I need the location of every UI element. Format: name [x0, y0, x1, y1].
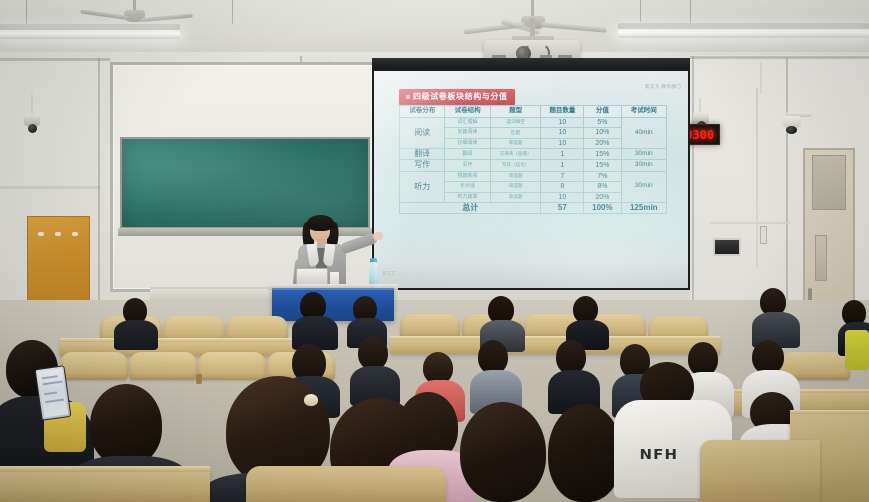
- student-head: [460, 402, 546, 502]
- cell-score: 20%: [584, 192, 621, 202]
- table-row: 阅读 词汇理解 选词填空 10 5% 40min: [400, 118, 667, 128]
- student-desk: [0, 470, 210, 502]
- cell-count: 10: [541, 118, 584, 128]
- table-total-row: 总计 57 100% 125min: [400, 202, 667, 213]
- group-writing: 写作: [400, 160, 445, 171]
- cell-count: 10: [541, 128, 584, 138]
- ceiling-light: [618, 29, 869, 38]
- cell-score: 20%: [584, 138, 621, 148]
- cell-qtype: 单选题: [490, 171, 541, 181]
- cell-qtype: 单选题: [490, 182, 541, 192]
- projection-screen: 新东方 教师部门 新东方 四级试卷板块结构与分值: [374, 71, 688, 288]
- student-desk: [700, 440, 820, 502]
- student-head: [688, 342, 718, 376]
- camera-lens-icon: [28, 124, 37, 133]
- teacher-hair: [307, 215, 334, 231]
- col-header-qtype: 题型: [490, 106, 541, 118]
- green-chalkboard: [120, 137, 370, 229]
- cell-score: 15%: [584, 149, 621, 160]
- cell-score: 8%: [584, 182, 621, 192]
- col-header-distribution: 试卷分布: [400, 106, 445, 118]
- door-window: [815, 235, 827, 281]
- total-time: 125min: [621, 202, 666, 213]
- phone-screen: [38, 369, 68, 418]
- phone-content-line: [42, 375, 58, 379]
- cell-time: 30min: [621, 160, 666, 171]
- presentation-slide: 新东方 教师部门 新东方 四级试卷板块结构与分值: [379, 101, 687, 263]
- wall-trim: [0, 186, 100, 189]
- cell-score: 7%: [584, 171, 621, 181]
- cell-structure: 仔细阅读: [445, 138, 490, 148]
- cell-score: 15%: [584, 160, 621, 171]
- cell-qtype: 匹配: [490, 128, 541, 138]
- cell-structure: 长篇阅读: [445, 128, 490, 138]
- wall-trim: [690, 56, 869, 59]
- cell-count: 10: [541, 192, 584, 202]
- student-torso: [114, 320, 158, 350]
- cell-structure: 短篇新闻: [445, 171, 490, 181]
- bullet-square-icon: [406, 95, 410, 99]
- wall-conduit: [756, 88, 758, 268]
- student-head: [752, 340, 784, 374]
- cell-qtype: 单选题: [490, 192, 541, 202]
- col-header-score: 分值: [584, 106, 621, 118]
- slide-title-banner: 四级试卷板块结构与分值: [399, 89, 515, 105]
- cell-count: 1: [541, 160, 584, 171]
- projection-screen-assembly: 新东方 教师部门 新东方 四级试卷板块结构与分值: [372, 58, 690, 290]
- student-desk: [246, 466, 446, 502]
- lamp-wire: [232, 0, 233, 24]
- student-head: [556, 340, 586, 374]
- student-yellow-vest: [845, 330, 869, 370]
- board-hook: [55, 232, 61, 236]
- student-head: [548, 404, 622, 502]
- seat-divider: [196, 374, 202, 384]
- wall-seam: [786, 58, 788, 316]
- student-head: [90, 384, 162, 466]
- table-row: 写作 写作 写作（议论） 1 15% 30min: [400, 160, 667, 171]
- cell-score: 10%: [584, 128, 621, 138]
- cell-time: 40min: [621, 118, 666, 149]
- lamp-wire: [640, 0, 641, 22]
- cell-structure: 词汇理解: [445, 118, 490, 128]
- board-hook: [72, 232, 78, 236]
- desk-edge: [60, 338, 300, 342]
- cell-qtype: 汉译英（段落）: [490, 149, 541, 160]
- slide-watermark-top: 新东方 教师部门: [645, 84, 681, 90]
- group-reading: 阅读: [400, 118, 445, 149]
- desk-edge: [790, 410, 869, 414]
- student-head: [573, 296, 598, 323]
- slide-watermark-bottom: 新东方: [382, 271, 396, 277]
- hanging-wire: [760, 62, 762, 94]
- table-header-row: 试卷分布 试卷结构 题型 题目数量 分值 考试时间: [400, 106, 667, 118]
- wall-trim: [0, 58, 110, 61]
- group-translation: 翻译: [400, 149, 445, 160]
- student-head: [478, 340, 508, 374]
- board-hook: [38, 232, 44, 236]
- cell-time: 30min: [621, 149, 666, 160]
- cell-structure: 长对话: [445, 182, 490, 192]
- jacket-lettering: NFH: [639, 448, 678, 463]
- lamp-wire: [690, 0, 691, 24]
- cell-count: 8: [541, 182, 584, 192]
- exam-structure-table: 试卷分布 试卷结构 题型 题目数量 分值 考试时间 阅读: [399, 105, 667, 214]
- wall-conduit: [710, 222, 790, 224]
- col-header-time: 考试时间: [621, 106, 666, 118]
- slide-title-text: 四级试卷板块结构与分值: [413, 92, 508, 101]
- table-row: 翻译 翻译 汉译英（段落） 1 15% 30min: [400, 149, 667, 160]
- phone-content-line: [45, 399, 64, 403]
- lecture-seat: [198, 352, 266, 380]
- desk-edge: [390, 336, 720, 340]
- cell-count: 7: [541, 171, 584, 181]
- wall-control-panel[interactable]: [713, 238, 741, 256]
- col-header-count: 题目数量: [541, 106, 584, 118]
- phone-content-line: [43, 381, 63, 385]
- door-window: [812, 155, 846, 210]
- lecture-seat: [60, 352, 128, 380]
- wall-seam: [692, 56, 694, 316]
- cell-count: 1: [541, 149, 584, 160]
- cell-qtype: 单选题: [490, 138, 541, 148]
- cell-time: 30min: [621, 171, 666, 202]
- table-row: 听力 短篇新闻 单选题 7 7% 30min: [400, 171, 667, 181]
- cell-qtype: 写作（议论）: [490, 160, 541, 171]
- hair-clip: [304, 394, 318, 406]
- cell-score: 5%: [584, 118, 621, 128]
- cell-structure: 写作: [445, 160, 490, 171]
- total-label: 总计: [400, 202, 541, 213]
- ceiling-light: [0, 30, 180, 39]
- cell-structure: 翻译: [445, 149, 490, 160]
- projector-mount: [530, 18, 535, 38]
- student-head: [358, 336, 388, 370]
- phone-content-line: [44, 391, 57, 394]
- desk-edge: [0, 466, 210, 472]
- wall-switch[interactable]: [760, 226, 767, 244]
- total-count: 57: [541, 202, 584, 213]
- cell-qtype: 选词填空: [490, 118, 541, 128]
- lecture-seat: [129, 352, 197, 380]
- screen-frame: 新东方 教师部门 新东方 四级试卷板块结构与分值: [372, 69, 690, 290]
- classroom-scene: 90300 新东方 教师部门 新东方 四级试卷板块结构与分值: [0, 0, 869, 502]
- cell-structure: 听力篇章: [445, 192, 490, 202]
- total-score: 100%: [584, 202, 621, 213]
- group-listening: 听力: [400, 171, 445, 202]
- lamp-wire: [26, 0, 27, 26]
- cell-count: 10: [541, 138, 584, 148]
- camera-pole: [31, 94, 33, 116]
- col-header-structure: 试卷结构: [445, 106, 490, 118]
- camera-lens-icon: [786, 126, 797, 134]
